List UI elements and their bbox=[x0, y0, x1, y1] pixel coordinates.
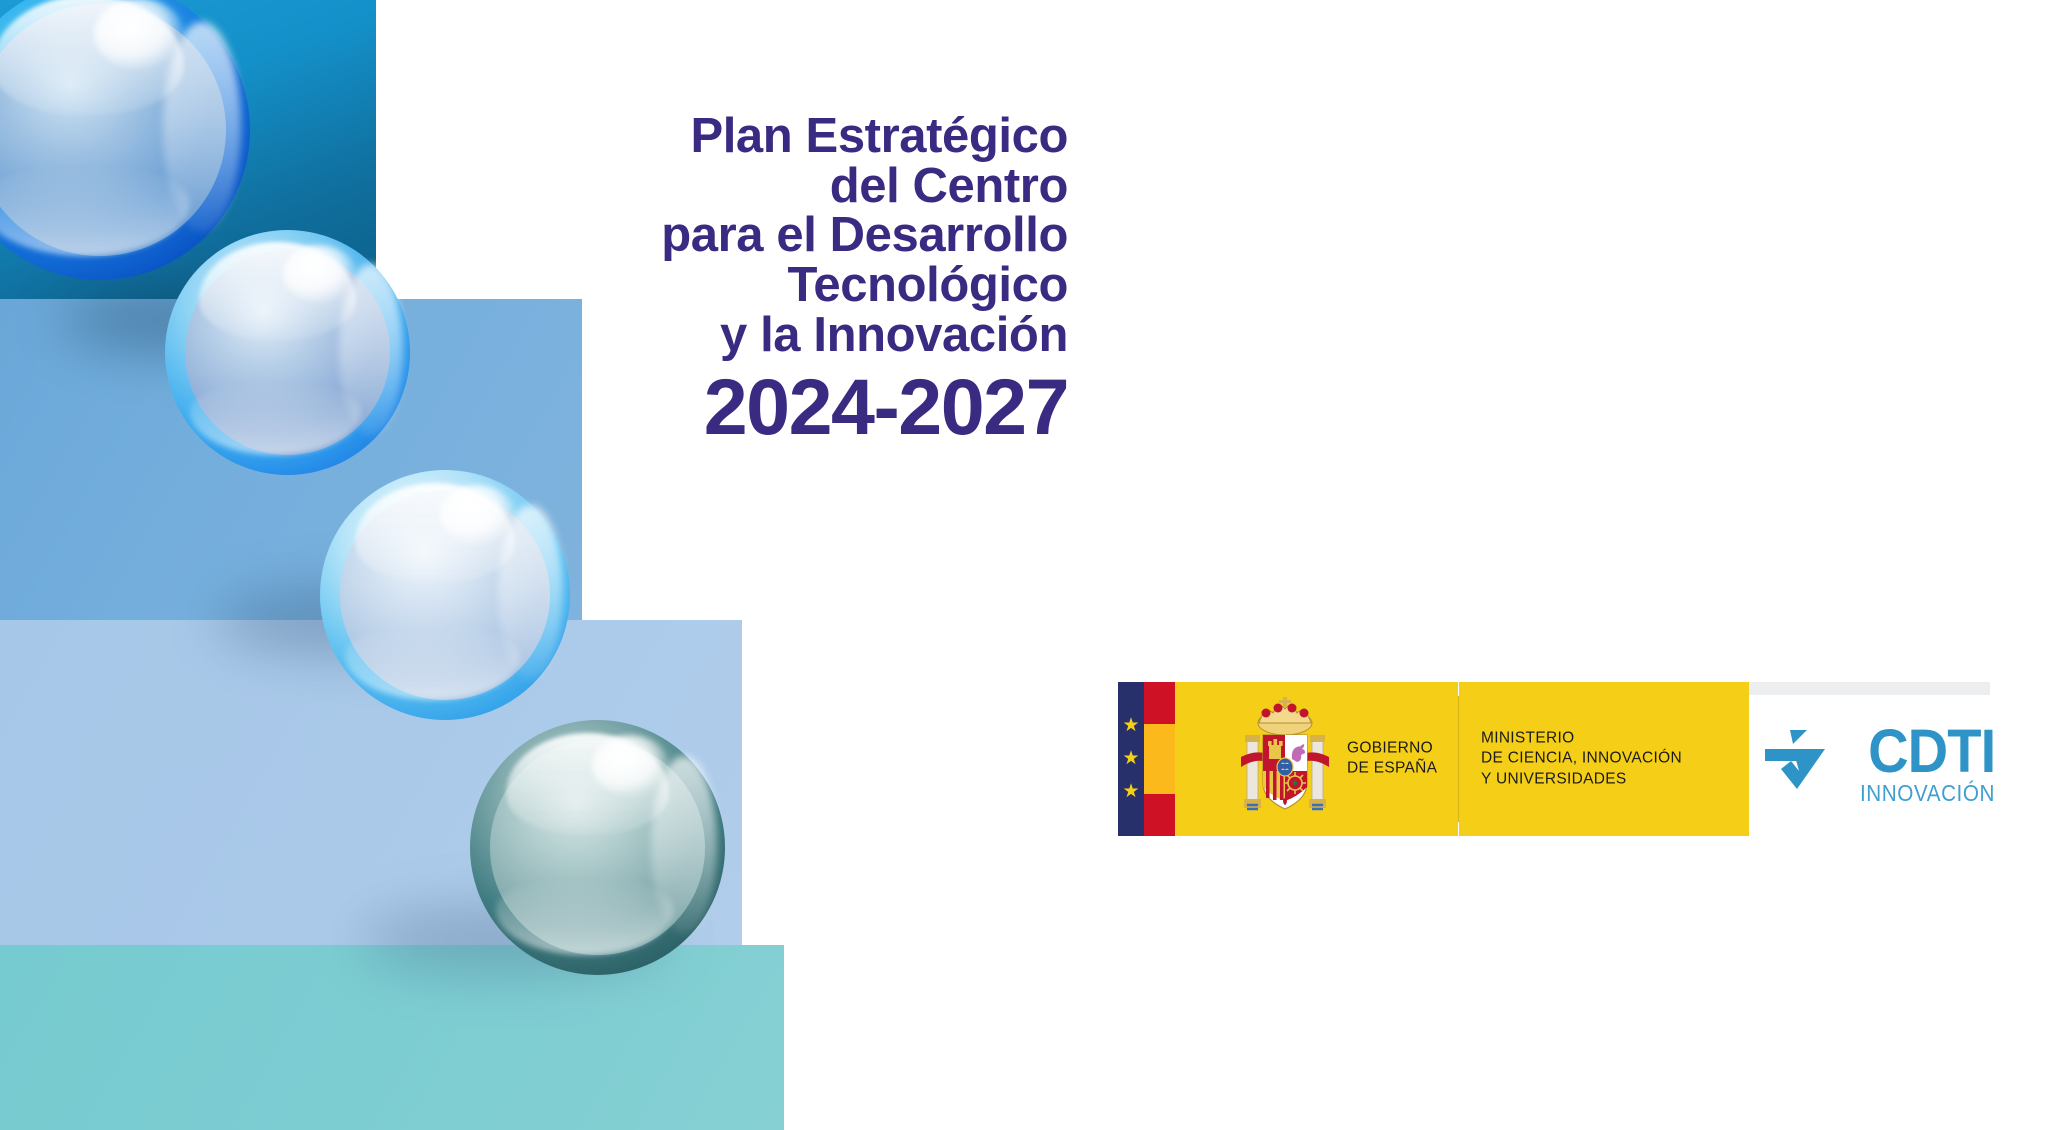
decor-band-turquoise bbox=[0, 945, 784, 1130]
title-line-3: para el Desarrollo bbox=[480, 211, 1068, 261]
ministerio-text: MINISTERIO DE CIENCIA, INNOVACIÓN Y UNIV… bbox=[1481, 728, 1682, 789]
spain-flag-strip bbox=[1144, 682, 1175, 836]
cdti-wordmark: CDTI bbox=[1868, 726, 1995, 777]
cdti-tagline: INNOVACIÓN bbox=[1860, 782, 1995, 805]
gobierno-text: GOBIERNO DE ESPAÑA bbox=[1347, 739, 1437, 780]
eu-star-icon: ★ bbox=[1122, 749, 1139, 768]
title-line-1: Plan Estratégico bbox=[480, 112, 1068, 162]
gobierno-line-2: DE ESPAÑA bbox=[1347, 759, 1437, 779]
sphere-highlight bbox=[94, 0, 184, 70]
ministerio-line-3: Y UNIVERSIDADES bbox=[1481, 769, 1682, 789]
flag-stripe-yellow bbox=[1144, 724, 1175, 795]
spain-coat-of-arms-icon bbox=[1235, 697, 1335, 821]
institutional-logo-bar: ★ ★ ★ bbox=[1118, 682, 1990, 836]
decor-sphere-pale-blue bbox=[320, 470, 570, 720]
title-line-2: del Centro bbox=[480, 162, 1068, 212]
sphere-highlight bbox=[440, 485, 515, 545]
flag-stripe-red-bottom bbox=[1144, 794, 1175, 836]
ministerio-line-2: DE CIENCIA, INNOVACIÓN bbox=[1481, 749, 1682, 769]
gobierno-de-espana-block: GOBIERNO DE ESPAÑA bbox=[1175, 682, 1458, 836]
flag-stripe-red-top bbox=[1144, 682, 1175, 724]
cdti-logo-block: CDTI INNOVACIÓN bbox=[1749, 682, 1990, 836]
gobierno-line-1: GOBIERNO bbox=[1347, 739, 1437, 759]
sphere-highlight bbox=[283, 245, 357, 304]
sphere-highlight bbox=[592, 735, 669, 796]
cdti-top-strip bbox=[1749, 682, 1990, 695]
cdti-arrow-check-icon bbox=[1763, 727, 1837, 799]
cover-page: Plan Estratégico del Centro para el Desa… bbox=[0, 0, 2048, 1130]
page-title: Plan Estratégico del Centro para el Desa… bbox=[480, 112, 1068, 446]
title-years: 2024-2027 bbox=[480, 367, 1068, 446]
ministerio-line-1: MINISTERIO bbox=[1481, 728, 1682, 748]
ministerio-block: MINISTERIO DE CIENCIA, INNOVACIÓN Y UNIV… bbox=[1459, 682, 1749, 836]
eu-flag-strip: ★ ★ ★ bbox=[1118, 682, 1144, 836]
title-line-4: Tecnológico bbox=[480, 261, 1068, 311]
decor-sphere-blue-medium bbox=[165, 230, 410, 475]
eu-star-icon: ★ bbox=[1122, 782, 1139, 801]
title-line-5: y la Innovación bbox=[480, 311, 1068, 361]
eu-star-icon: ★ bbox=[1122, 716, 1139, 735]
decor-sphere-dark-teal bbox=[470, 720, 725, 975]
